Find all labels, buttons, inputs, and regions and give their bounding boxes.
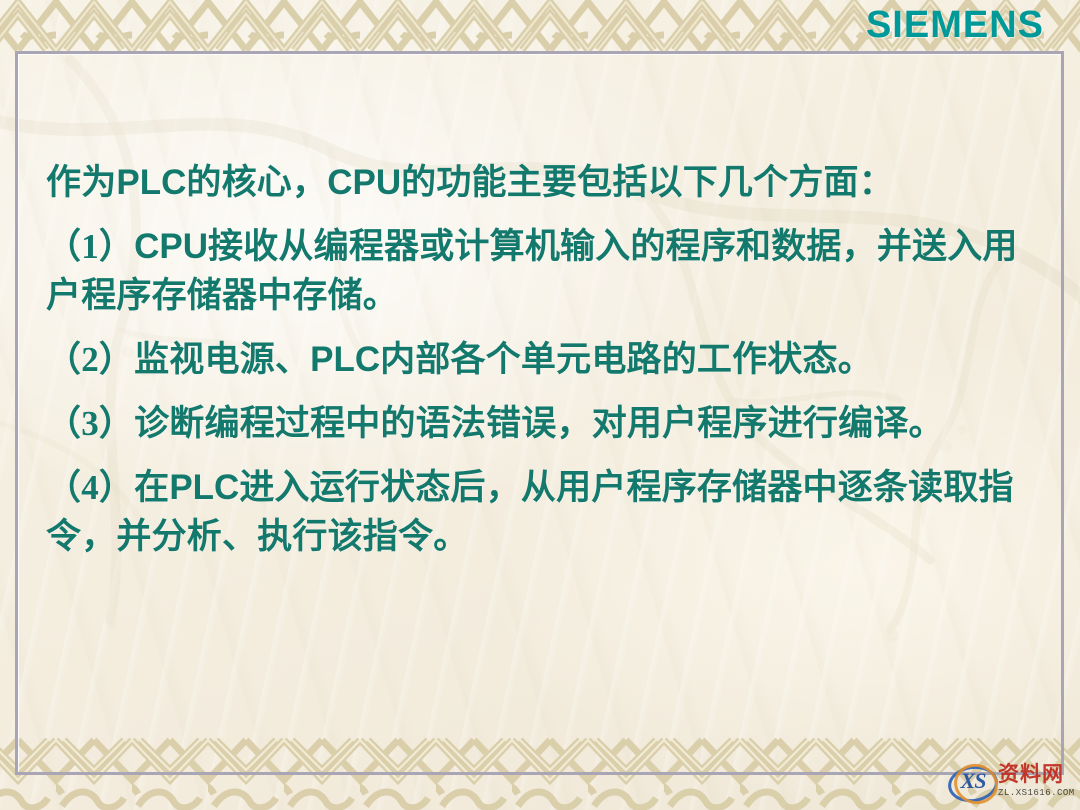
item-1-term-cpu: CPU (134, 227, 208, 266)
xs-logo-icon: XS (944, 761, 998, 801)
watermark-text-group: 资料网 ZL.XS1616.COM (998, 764, 1075, 798)
list-item-1: （1）CPU接收从编程器或计算机输入的程序和数据，并送入用户程序存储器中存储。 (46, 222, 1046, 320)
intro-text-1: 作为 (46, 163, 116, 202)
watermark-site-name: 资料网 (998, 764, 1075, 786)
xs-logo-text: XS (955, 768, 991, 794)
watermark-url: ZL.XS1616.COM (998, 788, 1075, 798)
list-marker-1: （1） (46, 222, 134, 271)
frame-border-bottom (15, 772, 1064, 775)
frame-highlight-top (18, 54, 1061, 55)
site-watermark: XS 资料网 ZL.XS1616.COM (944, 758, 1076, 804)
list-item-4: （4）在PLC进入运行状态后，从用户程序存储器中逐条读取指令，并分析、执行该指令… (46, 463, 1046, 561)
paragraph-intro: 作为PLC的核心，CPU的功能主要包括以下几个方面： (46, 158, 1046, 207)
frame-highlight-left (18, 54, 19, 772)
item-2-text: 内部各个单元电路的工作状态。 (380, 340, 873, 379)
slide-body: 作为PLC的核心，CPU的功能主要包括以下几个方面： （1）CPU接收从编程器或… (46, 158, 1046, 576)
intro-text-3: 的功能主要包括以下几个方面： (401, 163, 894, 202)
list-item-2: （2）监视电源、PLC内部各个单元电路的工作状态。 (46, 335, 1046, 384)
list-marker-3: （3） (46, 399, 134, 448)
slide-canvas: SIEMENS 作为PLC的核心，CPU的功能主要包括以下几个方面： （1）CP… (0, 0, 1080, 810)
item-2-term-plc: PLC (310, 340, 380, 379)
list-item-3: （3）诊断编程过程中的语法错误，对用户程序进行编译。 (46, 399, 1046, 448)
intro-text-2: 的核心， (186, 163, 327, 202)
item-4-term-plc: PLC (169, 468, 239, 507)
intro-term-cpu: CPU (327, 163, 401, 202)
intro-term-plc: PLC (116, 163, 186, 202)
list-marker-2: （2） (46, 335, 134, 384)
item-2-text-pre: 监视电源、 (134, 340, 310, 379)
list-marker-4: （4） (46, 463, 134, 512)
item-3-text: 诊断编程过程中的语法错误，对用户程序进行编译。 (134, 404, 944, 443)
frame-border-right (1061, 51, 1064, 775)
item-4-text-pre: 在 (134, 468, 169, 507)
siemens-logo: SIEMENS (866, 4, 1044, 47)
